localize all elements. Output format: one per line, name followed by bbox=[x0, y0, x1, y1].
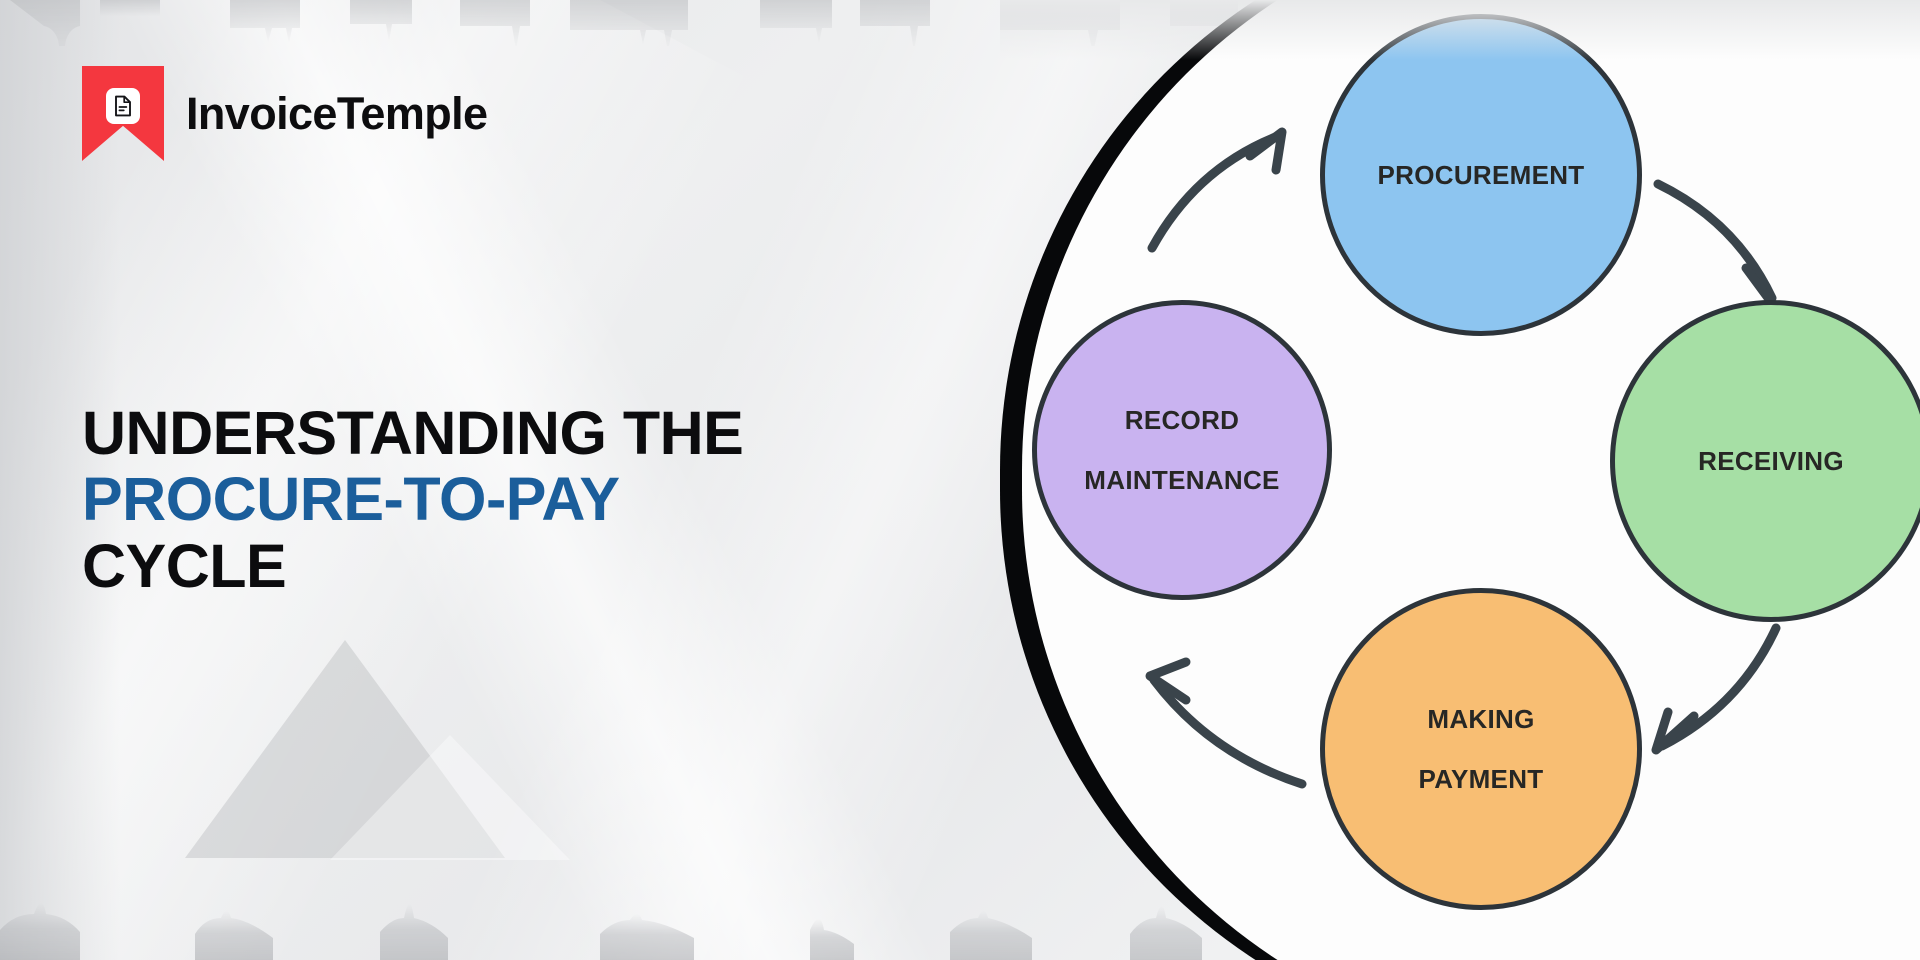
triangle-watermark-highlight bbox=[330, 735, 570, 860]
headline-line-3: CYCLE bbox=[82, 533, 962, 599]
headline-line-1: UNDERSTANDING THE bbox=[82, 400, 962, 466]
cycle-node-receiving[interactable]: RECEIVING bbox=[1610, 300, 1920, 622]
cycle-node-making-payment[interactable]: MAKINGPAYMENT bbox=[1320, 588, 1642, 910]
headline-line-2: PROCURE-TO-PAY bbox=[82, 466, 962, 532]
cycle-node-making-payment-label: MAKINGPAYMENT bbox=[1403, 704, 1560, 794]
cycle-node-record-maintenance-label: RECORDMAINTENANCE bbox=[1068, 405, 1295, 495]
cycle-node-procurement-label: PROCUREMENT bbox=[1370, 160, 1593, 190]
cycle-node-procurement[interactable]: PROCUREMENT bbox=[1320, 14, 1642, 336]
page-title: UNDERSTANDING THE PROCURE-TO-PAY CYCLE bbox=[82, 400, 962, 599]
payment-label-line-1: MAKING bbox=[1411, 704, 1552, 734]
payment-label-line-2: PAYMENT bbox=[1411, 764, 1552, 794]
record-label-line-1: RECORD bbox=[1076, 405, 1287, 435]
brand-logo: InvoiceTemple bbox=[82, 66, 487, 161]
document-glyph bbox=[106, 88, 140, 124]
record-label-line-2: MAINTENANCE bbox=[1076, 465, 1287, 495]
brand-name: InvoiceTemple bbox=[186, 88, 487, 140]
cycle-node-record-maintenance[interactable]: RECORDMAINTENANCE bbox=[1032, 300, 1332, 600]
document-bookmark-icon bbox=[82, 66, 164, 161]
cycle-node-receiving-label: RECEIVING bbox=[1690, 446, 1852, 476]
procure-to-pay-cycle-diagram: PROCUREMENT RECEIVING MAKINGPAYMENT RECO… bbox=[1010, 0, 1920, 960]
document-lines-icon bbox=[113, 95, 133, 117]
poster-canvas: InvoiceTemple UNDERSTANDING THE PROCURE-… bbox=[0, 0, 1920, 960]
